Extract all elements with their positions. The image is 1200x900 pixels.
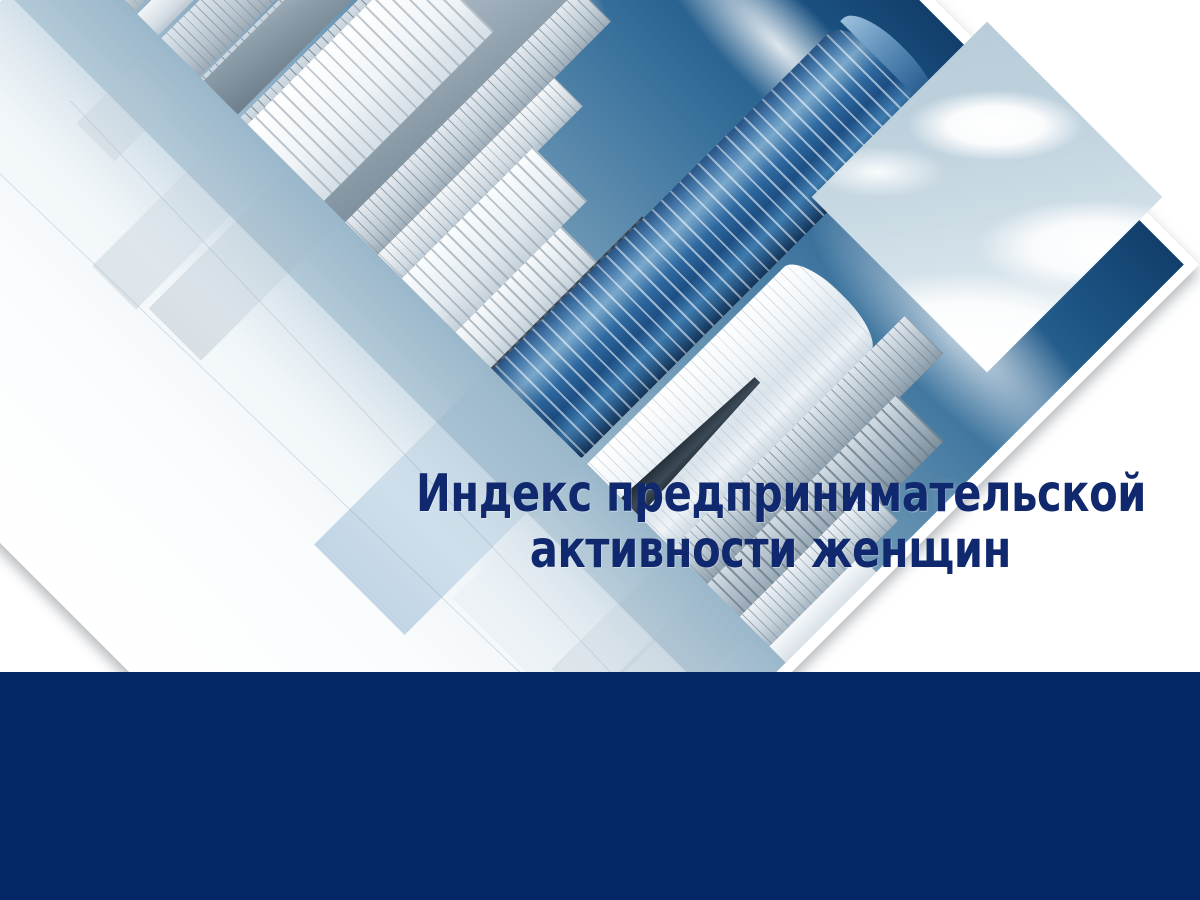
footer-band: ОПОРА РОССИИ ОБЩЕРОССИЙСКАЯ ОБЩЕСТВЕННАЯ… xyxy=(0,672,1200,900)
title-slide: Индекс предпринимательской активности же… xyxy=(0,0,1200,900)
page-title: Индекс предпринимательской активности же… xyxy=(416,466,1104,578)
title-line-2: активности женщин xyxy=(416,522,1104,578)
title-line-1: Индекс предпринимательской xyxy=(416,466,1104,522)
